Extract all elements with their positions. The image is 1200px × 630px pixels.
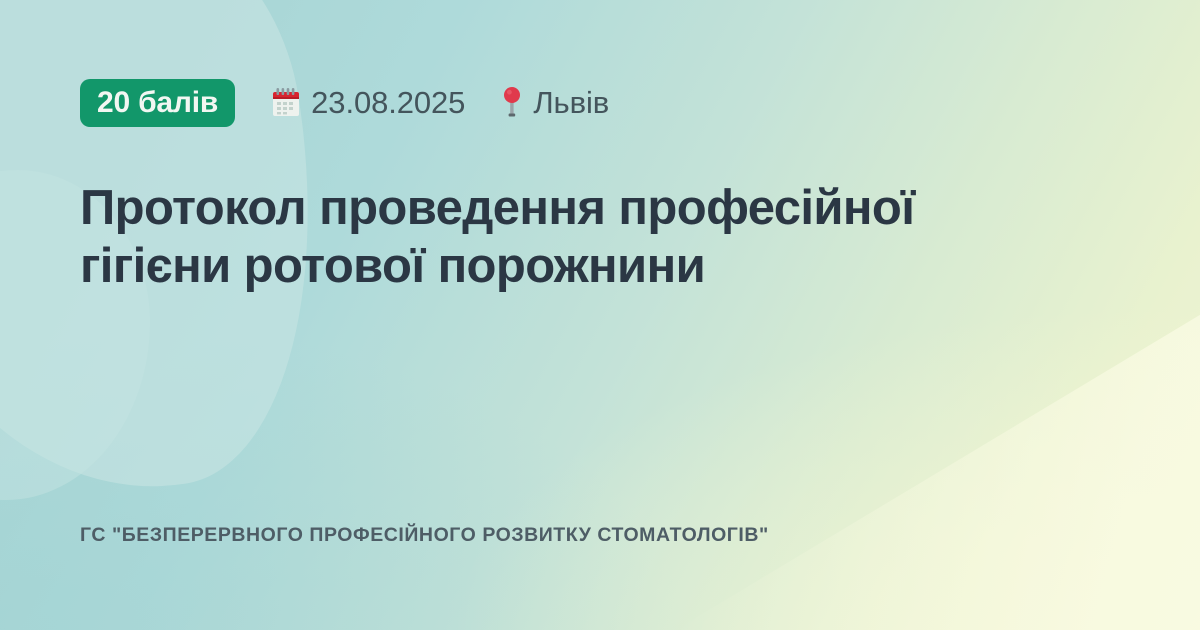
card-content: 20 балів: [0, 0, 1200, 630]
event-date: 23.08.2025: [271, 85, 465, 121]
event-location-value: Львів: [533, 85, 609, 121]
pin-icon: [501, 86, 523, 120]
page-title: Протокол проведення професійної гігієни …: [80, 180, 1100, 296]
organization-caption: ГС "БЕЗПЕРЕРВНОГО ПРОФЕСІЙНОГО РОЗВИТКУ …: [80, 524, 769, 547]
page-title-line-2: гігієни ротової порожнини: [80, 238, 1100, 296]
event-card: 20 балів: [0, 0, 1200, 630]
points-badge: 20 балів: [80, 79, 235, 127]
calendar-icon: [271, 87, 301, 119]
meta-row: 20 балів: [80, 78, 609, 128]
event-location: Львів: [501, 85, 609, 121]
event-date-value: 23.08.2025: [311, 85, 465, 121]
page-title-line-1: Протокол проведення професійної: [80, 180, 1100, 238]
